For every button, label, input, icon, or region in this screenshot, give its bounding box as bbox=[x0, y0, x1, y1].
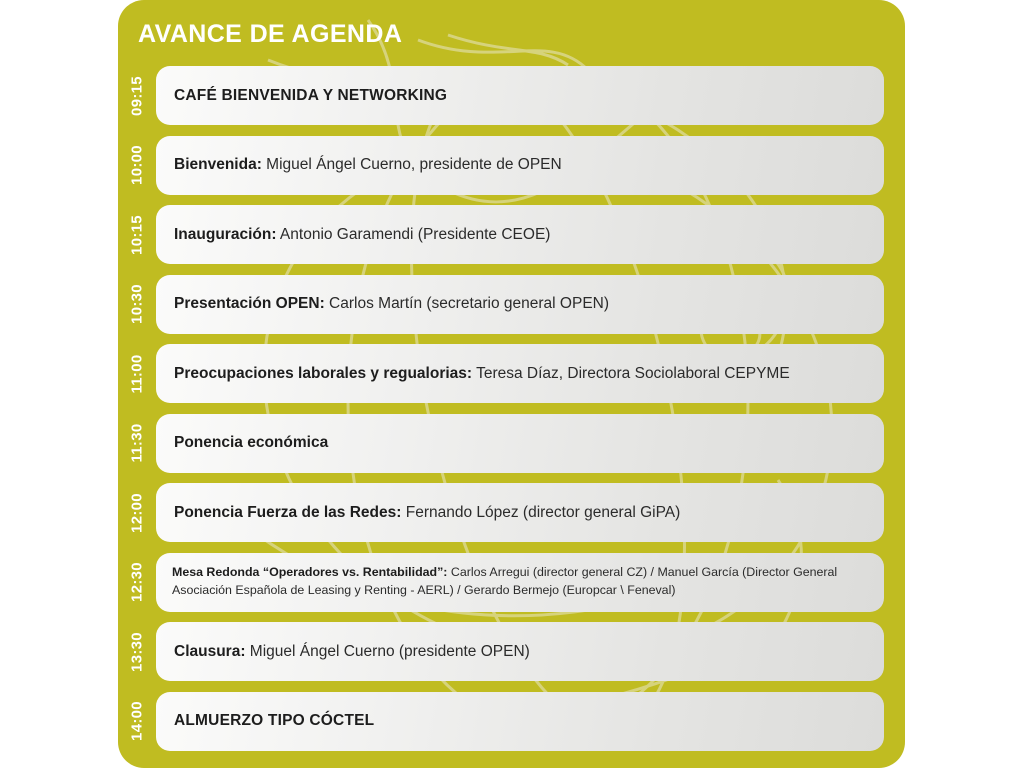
agenda-row[interactable]: 13:30 Clausura: Miguel Ángel Cuerno (pre… bbox=[118, 622, 905, 681]
agenda-card-lead: CAFÉ BIENVENIDA Y NETWORKING bbox=[174, 87, 447, 104]
time-label: 11:00 bbox=[129, 354, 146, 393]
agenda-card[interactable]: Inauguración: Antonio Garamendi (Preside… bbox=[156, 205, 884, 264]
agenda-row[interactable]: 14:00 ALMUERZO TIPO CÓCTEL bbox=[118, 692, 905, 751]
agenda-card-lead: Mesa Redonda “Operadores vs. Rentabilida… bbox=[172, 565, 447, 579]
agenda-row[interactable]: 11:30 Ponencia económica bbox=[118, 414, 905, 473]
time-cell: 09:15 bbox=[118, 66, 156, 125]
time-label: 12:00 bbox=[129, 493, 146, 533]
agenda-card-text: Inauguración: Antonio Garamendi (Preside… bbox=[156, 225, 568, 245]
time-label: 11:30 bbox=[129, 423, 146, 462]
time-label: 14:00 bbox=[129, 701, 146, 741]
time-label: 10:30 bbox=[129, 284, 146, 324]
agenda-card-lead: Inauguración: bbox=[174, 226, 276, 243]
agenda-card-rest: Fernando López (director general GiPA) bbox=[401, 504, 680, 521]
time-label: 09:15 bbox=[129, 76, 146, 116]
agenda-row[interactable]: 10:00 Bienvenida: Miguel Ángel Cuerno, p… bbox=[118, 136, 905, 195]
agenda-card[interactable]: Preocupaciones laborales y regualorias: … bbox=[156, 344, 884, 403]
time-cell: 13:30 bbox=[118, 622, 156, 681]
agenda-row[interactable]: 11:00 Preocupaciones laborales y regualo… bbox=[118, 344, 905, 403]
agenda-card-rest: Antonio Garamendi (Presidente CEOE) bbox=[276, 226, 550, 243]
agenda-card-lead: Ponencia económica bbox=[174, 434, 328, 451]
agenda-row[interactable]: 10:30 Presentación OPEN: Carlos Martín (… bbox=[118, 275, 905, 334]
time-label: 10:15 bbox=[129, 215, 146, 255]
time-cell: 10:15 bbox=[118, 205, 156, 264]
agenda-card-text: Ponencia económica bbox=[156, 433, 346, 453]
time-cell: 10:30 bbox=[118, 275, 156, 334]
agenda-card[interactable]: Mesa Redonda “Operadores vs. Rentabilida… bbox=[156, 553, 884, 612]
agenda-card-lead: ALMUERZO TIPO CÓCTEL bbox=[174, 712, 374, 729]
agenda-card[interactable]: CAFÉ BIENVENIDA Y NETWORKING bbox=[156, 66, 884, 125]
agenda-card-rest: Teresa Díaz, Directora Sociolaboral CEPY… bbox=[472, 365, 790, 382]
agenda-card-lead: Bienvenida: bbox=[174, 156, 262, 173]
agenda-card-text: Preocupaciones laborales y regualorias: … bbox=[156, 364, 808, 384]
agenda-card[interactable]: ALMUERZO TIPO CÓCTEL bbox=[156, 692, 884, 751]
agenda-row[interactable]: 09:15 CAFÉ BIENVENIDA Y NETWORKING bbox=[118, 66, 905, 125]
time-label: 10:00 bbox=[129, 145, 146, 185]
agenda-card-text: Bienvenida: Miguel Ángel Cuerno, preside… bbox=[156, 155, 580, 175]
time-cell: 10:00 bbox=[118, 136, 156, 195]
time-label: 12:30 bbox=[129, 562, 146, 602]
agenda-card-lead: Clausura: bbox=[174, 643, 246, 660]
agenda-card[interactable]: Presentación OPEN: Carlos Martín (secret… bbox=[156, 275, 884, 334]
agenda-card[interactable]: Ponencia Fuerza de las Redes: Fernando L… bbox=[156, 483, 884, 542]
time-cell: 11:30 bbox=[118, 414, 156, 473]
agenda-card-text: CAFÉ BIENVENIDA Y NETWORKING bbox=[156, 86, 465, 106]
agenda-row[interactable]: 12:30 Mesa Redonda “Operadores vs. Renta… bbox=[118, 553, 905, 612]
agenda-card-rest: Miguel Ángel Cuerno, presidente de OPEN bbox=[262, 156, 562, 173]
agenda-row[interactable]: 12:00 Ponencia Fuerza de las Redes: Fern… bbox=[118, 483, 905, 542]
agenda-card-lead: Presentación OPEN: bbox=[174, 295, 325, 312]
page-title: AVANCE DE AGENDA bbox=[138, 20, 402, 49]
time-cell: 14:00 bbox=[118, 692, 156, 751]
agenda-card-lead: Preocupaciones laborales y regualorias: bbox=[174, 365, 472, 382]
agenda-panel: AVANCE DE AGENDA 09:15 CAFÉ BIENVENIDA Y… bbox=[118, 0, 905, 768]
time-cell: 11:00 bbox=[118, 344, 156, 403]
agenda-card-text: Clausura: Miguel Ángel Cuerno (president… bbox=[156, 642, 548, 662]
agenda-card-rest: Miguel Ángel Cuerno (presidente OPEN) bbox=[246, 643, 530, 660]
time-cell: 12:30 bbox=[118, 553, 156, 612]
agenda-card-rest: Carlos Martín (secretario general OPEN) bbox=[325, 295, 609, 312]
agenda-card-text: Ponencia Fuerza de las Redes: Fernando L… bbox=[156, 503, 698, 523]
agenda-card-text: Mesa Redonda “Operadores vs. Rentabilida… bbox=[156, 564, 884, 599]
agenda-card[interactable]: Clausura: Miguel Ángel Cuerno (president… bbox=[156, 622, 884, 681]
time-label: 13:30 bbox=[129, 632, 146, 672]
agenda-row[interactable]: 10:15 Inauguración: Antonio Garamendi (P… bbox=[118, 205, 905, 264]
agenda-card[interactable]: Bienvenida: Miguel Ángel Cuerno, preside… bbox=[156, 136, 884, 195]
agenda-card[interactable]: Ponencia económica bbox=[156, 414, 884, 473]
agenda-card-text: Presentación OPEN: Carlos Martín (secret… bbox=[156, 294, 627, 314]
agenda-card-text: ALMUERZO TIPO CÓCTEL bbox=[156, 711, 392, 731]
agenda-rows-container: 09:15 CAFÉ BIENVENIDA Y NETWORKING 10:00… bbox=[118, 66, 905, 761]
time-cell: 12:00 bbox=[118, 483, 156, 542]
agenda-card-lead: Ponencia Fuerza de las Redes: bbox=[174, 504, 401, 521]
